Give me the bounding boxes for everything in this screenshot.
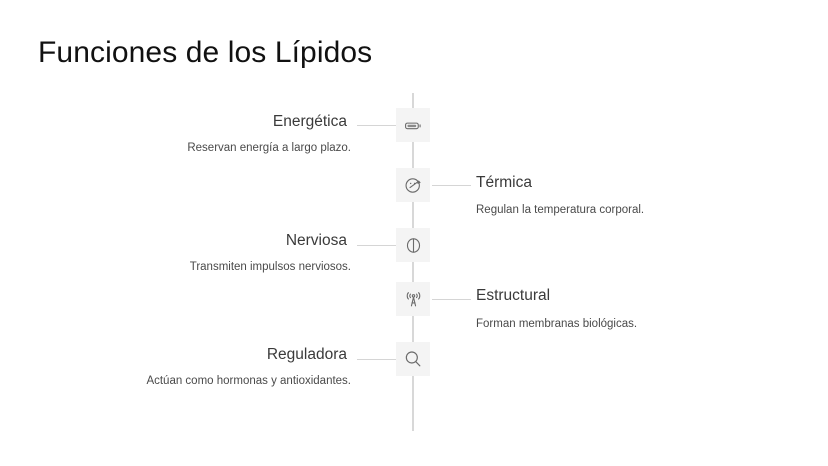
timeline-item-description: Forman membranas biológicas.	[476, 316, 637, 332]
timeline-item-description: Actúan como hormonas y antioxidantes.	[146, 373, 351, 389]
timeline-item-description: Transmiten impulsos nerviosos.	[190, 259, 351, 275]
timeline-icon-box[interactable]	[396, 282, 430, 316]
timeline-item-label: Estructural	[476, 286, 550, 306]
broadcast-tower-icon	[404, 290, 423, 309]
timeline-item-label: Energética	[273, 112, 347, 132]
timeline-icon-box[interactable]	[396, 342, 430, 376]
connector-line	[357, 125, 396, 126]
timeline-item-label: Reguladora	[267, 345, 347, 365]
timeline-item-description: Regulan la temperatura corporal.	[476, 202, 644, 218]
timeline-icon-box[interactable]	[396, 228, 430, 262]
timeline-icon-box[interactable]	[396, 108, 430, 142]
connector-line	[432, 185, 471, 186]
gauge-icon	[404, 176, 423, 195]
timeline-item-label: Nerviosa	[286, 231, 347, 251]
connector-line	[357, 359, 396, 360]
timeline-item-label: Térmica	[476, 173, 532, 193]
timeline-axis	[412, 93, 414, 431]
page-title: Funciones de los Lípidos	[38, 34, 372, 72]
connector-line	[432, 299, 471, 300]
brain-icon	[404, 236, 423, 255]
battery-icon	[404, 116, 423, 135]
connector-line	[357, 245, 396, 246]
timeline-icon-box[interactable]	[396, 168, 430, 202]
timeline-item-description: Reservan energía a largo plazo.	[187, 140, 351, 156]
search-icon	[403, 349, 423, 369]
